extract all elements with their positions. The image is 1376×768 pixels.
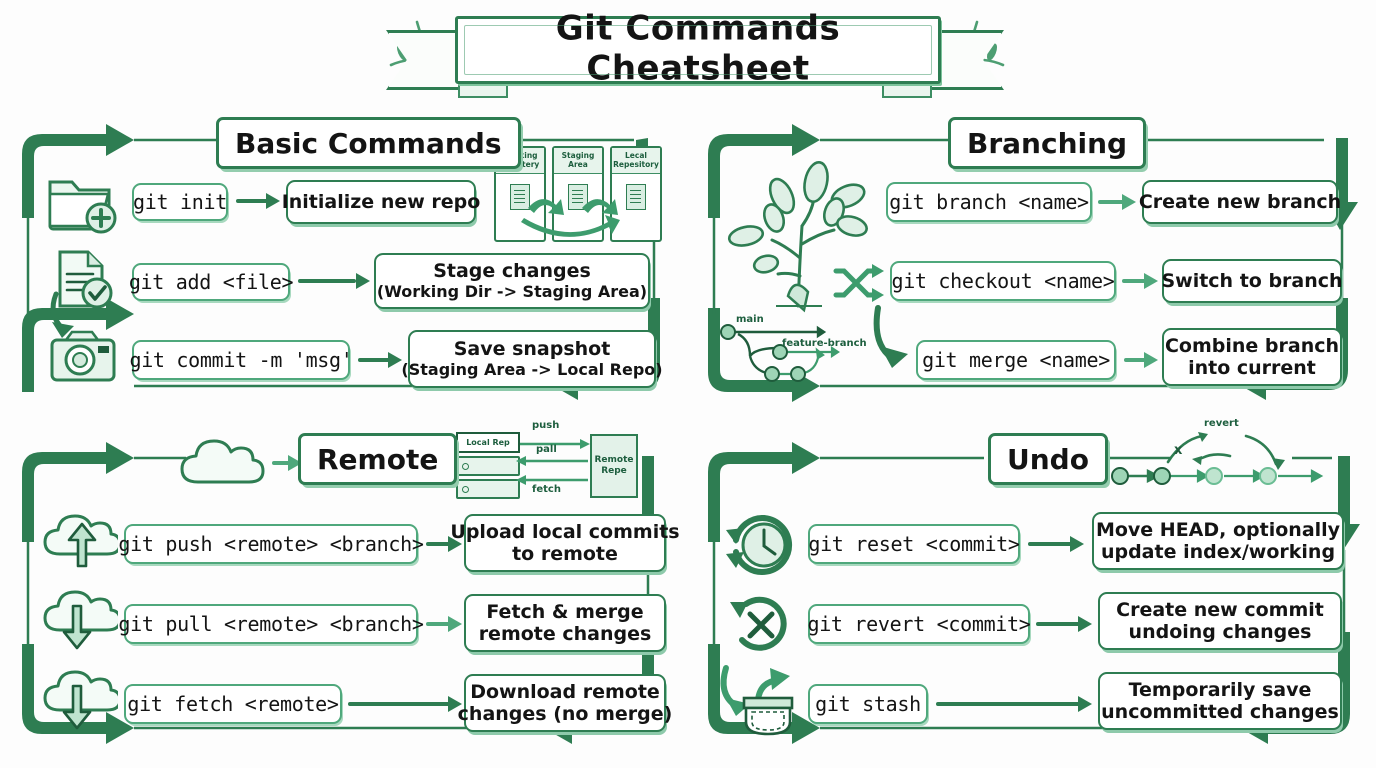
flow-arrow xyxy=(1098,195,1136,209)
description-upload-local-commits: Upload local commits to remote xyxy=(464,514,666,572)
curved-arrow-icon xyxy=(44,288,88,344)
description-fetch-and-merge: Fetch & merge remote changes xyxy=(464,594,666,652)
command-chip-git-checkout[interactable]: git checkout <name> xyxy=(890,261,1116,301)
description-download-remote-changes: Download remote changes (no merge) xyxy=(464,674,666,732)
clock-back-icon xyxy=(722,510,798,580)
section-heading-remote: Remote xyxy=(298,433,457,485)
command-chip-git-revert[interactable]: git revert <commit> xyxy=(808,604,1030,644)
description-create-new-branch: Create new branch xyxy=(1142,180,1338,224)
flow-arrow xyxy=(1124,353,1158,367)
local-repo-label: Local Rep xyxy=(456,432,520,453)
flow-arrow xyxy=(236,194,280,208)
description-combine-branch: Combine branch into current xyxy=(1162,328,1342,386)
shuffle-icon xyxy=(830,258,886,308)
section-heading-undo: Undo xyxy=(988,433,1108,485)
page-title: Git Commands Cheatsheet xyxy=(458,8,938,88)
cheatsheet-page: Git Commands Cheatsheet Basic Commands xyxy=(0,0,1376,768)
description-move-head: Move HEAD, optionally update index/worki… xyxy=(1092,512,1344,570)
command-chip-git-pull[interactable]: git pull <remote> <branch> xyxy=(124,604,418,644)
flow-arrow xyxy=(358,353,402,367)
pocket-icon xyxy=(714,654,810,738)
flow-label-push: push xyxy=(532,420,559,431)
server-unit xyxy=(456,479,520,499)
description-create-new-commit: Create new commit undoing changes xyxy=(1098,592,1342,650)
document-icon xyxy=(568,184,588,210)
section-remote: Remote Local Rep Remote Repe xyxy=(14,432,664,754)
flow-label-fetch: fetch xyxy=(532,484,561,495)
commit-label-revert: revert xyxy=(1204,418,1239,429)
flow-arrow xyxy=(1028,537,1084,551)
description-temporarily-save: Temporarily save uncommitted changes xyxy=(1098,672,1342,730)
server-unit xyxy=(456,456,520,476)
flow-arrow xyxy=(426,617,462,631)
stage-label-local: Lecal Repesitory xyxy=(612,148,660,174)
flow-arrow xyxy=(936,697,1092,711)
description-initialize-new-repo: Initialize new repo xyxy=(286,180,476,224)
command-chip-git-push[interactable]: git push <remote> <branch> xyxy=(124,524,418,564)
command-chip-git-merge[interactable]: git merge <name> xyxy=(916,340,1116,380)
flow-arrow xyxy=(298,274,370,288)
branch-label-main: main xyxy=(736,314,764,325)
section-branching: Branching xyxy=(700,118,1360,408)
flow-arrow xyxy=(1036,617,1092,631)
cloud-icon xyxy=(176,434,266,490)
command-chip-git-reset[interactable]: git reset <commit> xyxy=(808,524,1020,564)
document-icon xyxy=(626,184,646,210)
command-chip-git-fetch[interactable]: git fetch <remote> xyxy=(124,684,342,724)
description-stage-changes: Stage changes (Working Dir -> Staging Ar… xyxy=(374,253,650,309)
section-basic-commands: Basic Commands Werking Dirsctery Staging… xyxy=(14,118,664,408)
circle-x-icon xyxy=(722,588,798,658)
flow-arrow xyxy=(1122,274,1158,288)
stage-box-staging: Staging Area xyxy=(552,146,604,242)
banner-tail-left xyxy=(386,30,466,90)
document-icon xyxy=(510,184,530,210)
cloud-upload-icon xyxy=(40,510,118,574)
command-chip-git-init[interactable]: git init xyxy=(132,183,228,221)
title-banner: Git Commands Cheatsheet xyxy=(380,8,1010,96)
branch-label-feature: feature-branch xyxy=(782,338,867,349)
section-heading-branching: Branching xyxy=(948,117,1146,169)
svg-text:x: x xyxy=(1174,443,1183,458)
remote-servers-diagram: Local Rep Remote Repe xyxy=(456,428,656,508)
local-repo-stack: Local Rep xyxy=(456,432,520,499)
command-chip-git-stash[interactable]: git stash xyxy=(808,684,928,724)
folder-plus-icon xyxy=(44,168,120,236)
description-switch-to-branch: Switch to branch xyxy=(1162,259,1342,303)
section-heading-basic: Basic Commands xyxy=(216,117,521,169)
stage-box-local: Lecal Repesitory xyxy=(610,146,662,242)
banner-plate: Git Commands Cheatsheet xyxy=(455,16,941,84)
command-chip-git-add[interactable]: git add <file> xyxy=(132,263,290,301)
cloud-download-icon xyxy=(40,670,118,734)
section-undo: Undo xyxy=(700,432,1360,754)
flow-label-pull: pall xyxy=(536,444,557,455)
cloud-download-icon xyxy=(40,590,118,654)
command-chip-git-commit[interactable]: git commit -m 'msg' xyxy=(132,340,350,380)
stage-label-staging: Staging Area xyxy=(554,148,602,174)
command-chip-git-branch[interactable]: git branch <name> xyxy=(886,182,1092,222)
remote-repo-box: Remote Repe xyxy=(590,434,638,498)
commit-line-diagram: x revert xyxy=(1106,418,1336,494)
description-save-snapshot: Save snapshot (Staging Area -> Local Rep… xyxy=(408,330,656,388)
flow-arrow xyxy=(348,697,462,711)
